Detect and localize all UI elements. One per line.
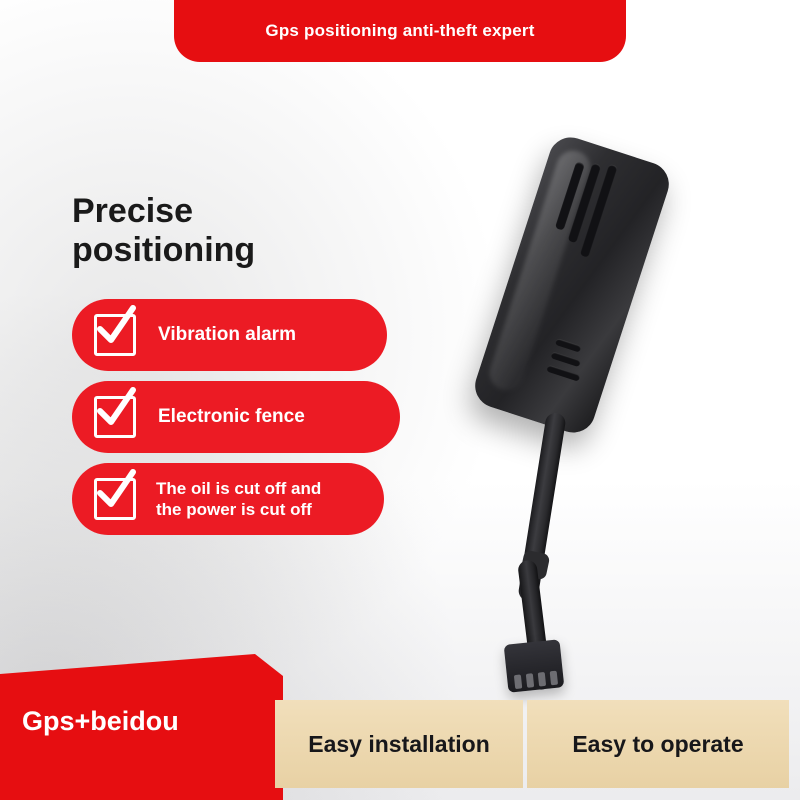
feature-label-line-1: The oil is cut off and [156,479,321,498]
checkbox-checked-icon [94,314,136,356]
device-vent-line [555,338,582,353]
device-connector [504,639,565,693]
connector-pin [526,673,534,688]
gps-tracker-device-photo [470,120,770,740]
feature-label-line-2: the power is cut off [156,500,312,519]
connector-pin [538,672,546,687]
bottom-box-label: Easy installation [308,731,490,758]
feature-label: Electronic fence [158,405,305,429]
feature-list: Vibration alarm Electronic fence The oil… [72,299,402,545]
feature-item-oil-power-cutoff[interactable]: The oil is cut off and the power is cut … [72,463,384,535]
checkbox-checked-icon [94,396,136,438]
feature-item-electronic-fence[interactable]: Electronic fence [72,381,400,453]
feature-label: The oil is cut off and the power is cut … [156,478,321,521]
brand-flag-label: Gps+beidou [22,706,179,737]
bottom-box-easy-to-operate: Easy to operate [527,700,789,788]
bottom-box-easy-installation: Easy installation [275,700,523,788]
top-banner-text: Gps positioning anti-theft expert [265,21,534,41]
checkbox-checked-icon [94,478,136,520]
headline-line-1: Precise [72,192,402,231]
bottom-box-label: Easy to operate [572,731,743,758]
connector-pin [514,674,522,689]
device-body [469,132,674,439]
top-banner: Gps positioning anti-theft expert [174,0,626,62]
feature-item-vibration-alarm[interactable]: Vibration alarm [72,299,387,371]
device-vent-line [546,365,580,382]
feature-label: Vibration alarm [158,323,296,347]
connector-pin [550,671,558,686]
product-poster: Gps positioning anti-theft expert Precis… [0,0,800,800]
headline-line-2: positioning [72,231,402,270]
device-vent-line [550,351,581,367]
page-title: Precise positioning [72,192,402,270]
